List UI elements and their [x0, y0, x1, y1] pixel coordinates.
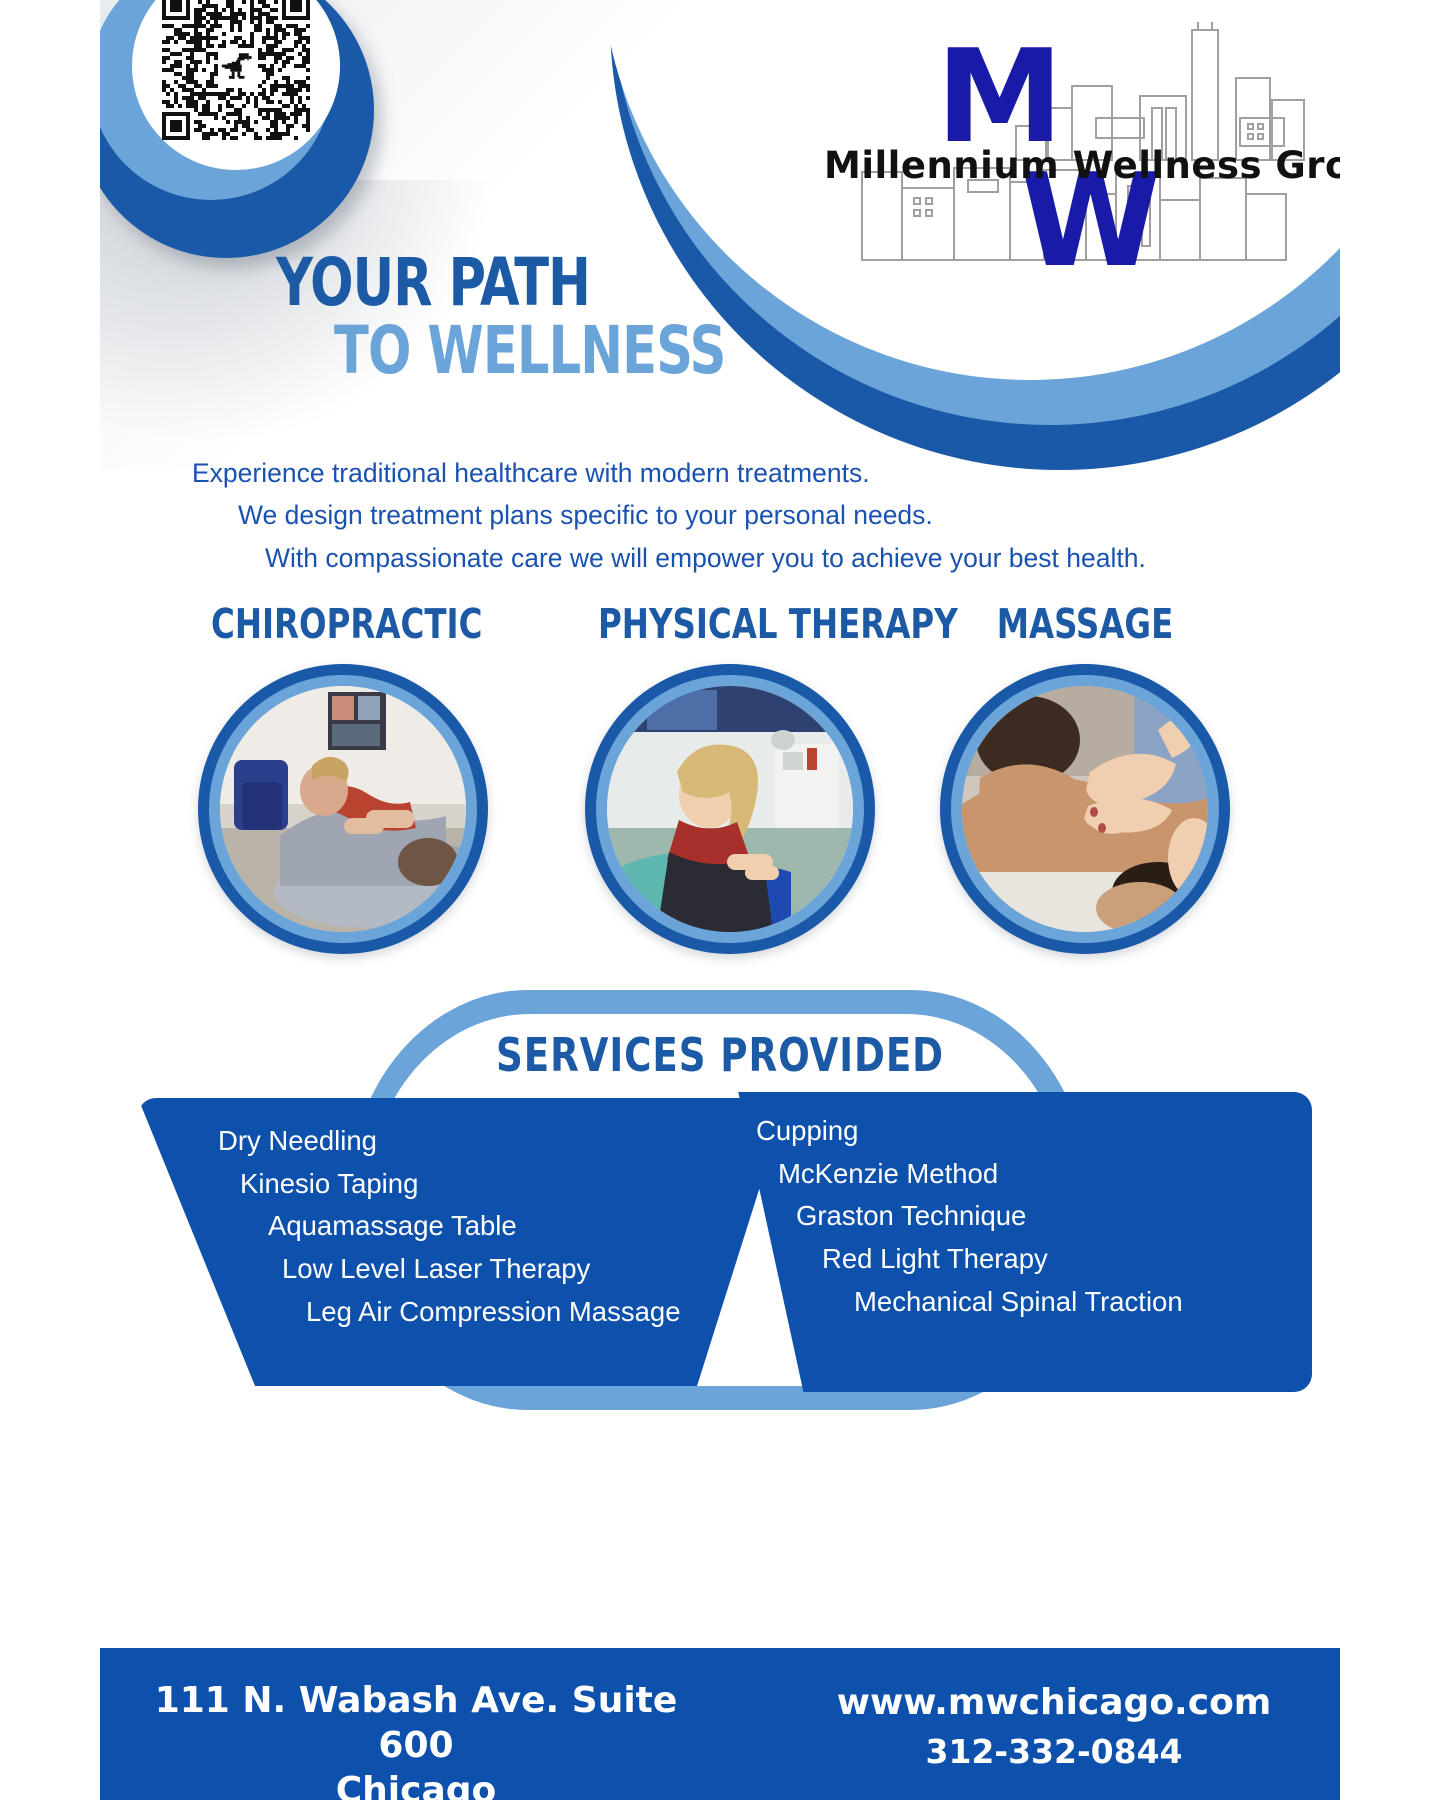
- physical-therapy-photo: [607, 686, 853, 932]
- intro-line-3: With compassionate care we will empower …: [100, 537, 1340, 579]
- flyer-page: M W Millennium Wellness Group YOUR PATH …: [100, 0, 1340, 1800]
- category-photo-frame: [198, 664, 488, 954]
- service-item: Mechanical Spinal Traction: [756, 1281, 1312, 1324]
- address-line-1: 111 N. Wabash Ave. Suite 600: [136, 1678, 696, 1768]
- category-photo-frame: [585, 664, 875, 954]
- qr-badge[interactable]: [100, 0, 374, 258]
- intro-line-1: Experience traditional healthcare with m…: [100, 452, 1340, 494]
- service-item: Red Light Therapy: [756, 1238, 1312, 1281]
- page-title: YOUR PATH TO WELLNESS: [276, 252, 896, 382]
- category-title: PHYSICAL THERAPY: [598, 600, 862, 648]
- website-link[interactable]: www.mwchicago.com: [814, 1680, 1294, 1727]
- intro-line-2: We design treatment plans specific to yo…: [100, 494, 1340, 536]
- footer-bar: 111 N. Wabash Ave. Suite 600 Chicago www…: [100, 1648, 1340, 1800]
- category-physical-therapy: PHYSICAL THERAPY: [580, 600, 880, 954]
- category-title: MASSAGE: [953, 600, 1217, 648]
- headline-line-2: TO WELLNESS: [334, 320, 817, 382]
- footer-address: 111 N. Wabash Ave. Suite 600 Chicago: [136, 1678, 696, 1800]
- qr-code[interactable]: [162, 0, 310, 140]
- company-logo: M W Millennium Wellness Group: [840, 22, 1310, 262]
- logo-wordmark: Millennium Wellness Group: [824, 144, 1324, 187]
- service-item: Cupping: [756, 1110, 1312, 1153]
- address-line-2: Chicago: [136, 1768, 696, 1800]
- category-title: CHIROPRACTIC: [211, 600, 475, 648]
- category-chiropractic: CHIROPRACTIC: [193, 600, 493, 954]
- phone-number[interactable]: 312-332-0844: [814, 1731, 1294, 1774]
- qr-badge-inner: [132, 0, 340, 170]
- headline-line-1: YOUR PATH: [276, 252, 809, 314]
- category-photo-frame: [940, 664, 1230, 954]
- service-item: McKenzie Method: [756, 1153, 1312, 1196]
- logo-letter-m: M: [936, 46, 1057, 151]
- qr-badge-ring: [100, 0, 332, 200]
- intro-paragraph: Experience traditional healthcare with m…: [100, 452, 1340, 579]
- service-item: Leg Air Compression Massage: [218, 1291, 788, 1334]
- service-item: Graston Technique: [756, 1195, 1312, 1238]
- footer-contact: www.mwchicago.com 312-332-0844: [814, 1680, 1294, 1774]
- services-heading: SERVICES PROVIDED: [162, 1028, 1278, 1082]
- chiropractic-photo: [220, 686, 466, 932]
- service-item: Dry Needling: [218, 1120, 788, 1163]
- massage-photo: [962, 686, 1208, 932]
- service-item: Low Level Laser Therapy: [218, 1248, 788, 1291]
- service-item: Aquamassage Table: [218, 1205, 788, 1248]
- service-categories: CHIROPRACTIC: [100, 600, 1340, 960]
- dinosaur-icon: [219, 51, 253, 81]
- category-massage: MASSAGE: [935, 600, 1235, 954]
- service-item: Kinesio Taping: [218, 1163, 788, 1206]
- services-panel-left: Dry Needling Kinesio Taping Aquamassage …: [138, 1098, 788, 1386]
